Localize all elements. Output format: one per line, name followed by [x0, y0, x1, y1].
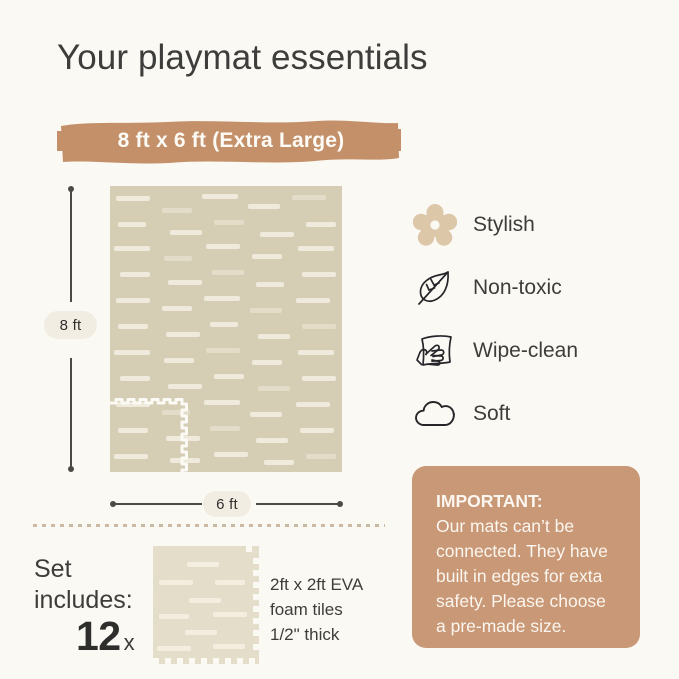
leaf-icon: [409, 262, 461, 314]
feature-item-soft: Soft: [409, 382, 659, 445]
foam-tile-sample: [151, 544, 261, 666]
dimension-endpoint-dot: [68, 466, 74, 472]
feature-list: Stylish Non-toxic: [409, 193, 659, 445]
page-title: Your playmat essentials: [57, 38, 428, 78]
wipe-cloth-icon: [409, 325, 461, 377]
feature-label: Wipe-clean: [473, 339, 578, 363]
tile-description-line3: 1/2" thick: [270, 622, 363, 647]
feature-label: Stylish: [473, 213, 535, 237]
size-banner-label: 8 ft x 6 ft (Extra Large): [57, 117, 401, 165]
infographic-page: Your playmat essentials 8 ft x 6 ft (Ext…: [0, 0, 679, 679]
tile-count: 12 x: [76, 613, 135, 660]
feature-item-wipe-clean: Wipe-clean: [409, 319, 659, 382]
feature-item-non-toxic: Non-toxic: [409, 256, 659, 319]
dimension-line-segment: [114, 503, 202, 505]
important-notice-box: IMPORTANT: Our mats can’t be connected. …: [412, 466, 640, 648]
tile-description-line2: foam tiles: [270, 597, 363, 622]
width-dimension-label: 6 ft: [203, 491, 251, 517]
single-tile-outline: [110, 398, 188, 472]
set-includes-line1: Set: [34, 554, 133, 585]
dimension-line-segment: [256, 503, 340, 505]
feature-label: Soft: [473, 402, 510, 426]
set-includes-line2: includes:: [34, 585, 133, 616]
dimension-line-segment: [70, 190, 72, 302]
set-includes-label: Set includes:: [34, 554, 133, 616]
section-divider: [33, 524, 385, 527]
size-banner: 8 ft x 6 ft (Extra Large): [57, 117, 401, 165]
height-dimension-label: 8 ft: [44, 311, 97, 339]
important-body: Our mats can’t be connected. They have b…: [436, 514, 620, 639]
dimension-endpoint-dot: [337, 501, 343, 507]
tile-count-number: 12: [76, 613, 121, 660]
flower-icon: [409, 199, 461, 251]
important-heading: IMPORTANT:: [436, 489, 620, 514]
feature-item-stylish: Stylish: [409, 193, 659, 256]
tile-description: 2ft x 2ft EVA foam tiles 1/2" thick: [270, 572, 363, 647]
cloud-icon: [409, 388, 461, 440]
dimension-line-segment: [70, 358, 72, 468]
tile-count-suffix: x: [124, 630, 135, 656]
feature-label: Non-toxic: [473, 276, 562, 300]
tile-description-line1: 2ft x 2ft EVA: [270, 572, 363, 597]
